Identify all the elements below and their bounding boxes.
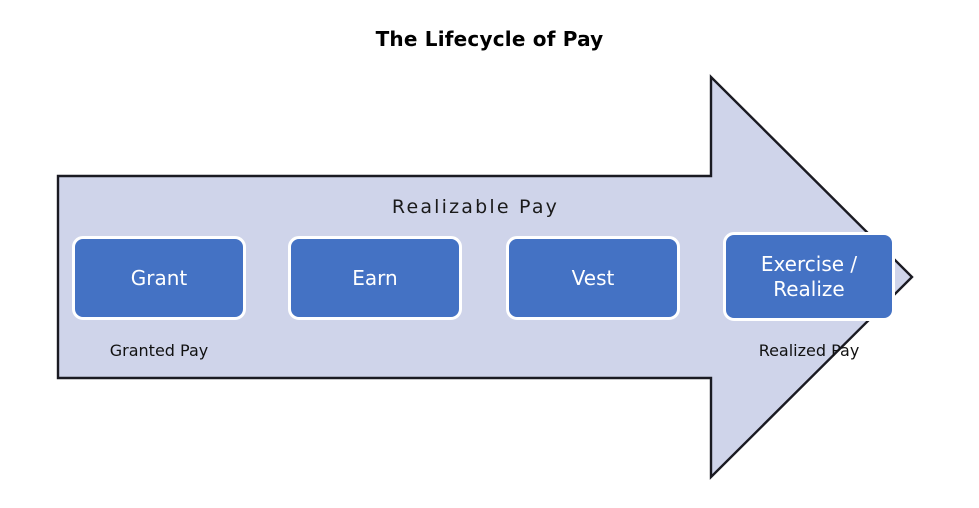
band-label-realizable-pay: Realizable Pay bbox=[58, 196, 893, 218]
stage-label-exercise-line2: Realize bbox=[773, 277, 844, 301]
stage-box-vest[interactable]: Vest bbox=[506, 236, 680, 320]
stage-box-earn[interactable]: Earn bbox=[288, 236, 462, 320]
stage-box-exercise-realize[interactable]: Exercise /Realize bbox=[723, 232, 895, 321]
diagram-canvas: The Lifecycle of Pay Realizable Pay Gran… bbox=[0, 0, 979, 508]
stage-label-exercise-realize: Exercise /Realize bbox=[755, 252, 863, 301]
stage-label-earn: Earn bbox=[346, 266, 403, 290]
stage-label-vest: Vest bbox=[566, 266, 621, 290]
stage-label-grant: Grant bbox=[125, 266, 194, 290]
caption-granted-pay: Granted Pay bbox=[72, 341, 246, 360]
stage-label-exercise-line1: Exercise / bbox=[761, 252, 857, 276]
page-title: The Lifecycle of Pay bbox=[0, 27, 979, 51]
caption-realized-pay: Realized Pay bbox=[723, 341, 895, 360]
stage-box-grant[interactable]: Grant bbox=[72, 236, 246, 320]
